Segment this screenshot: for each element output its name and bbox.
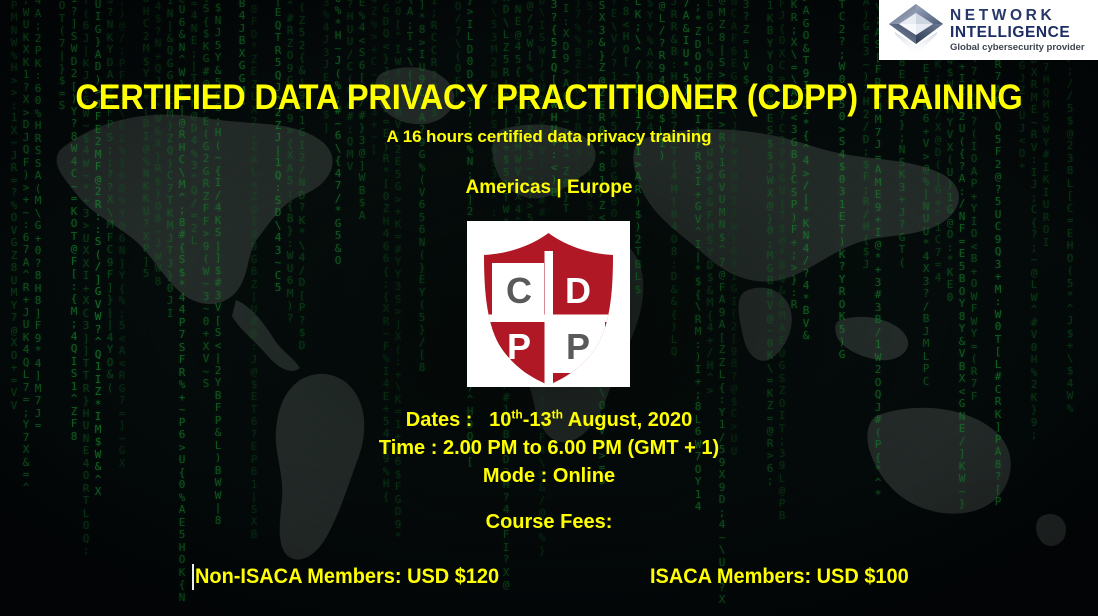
fee-non-isaca: Non-ISACA Members: USD $120 (195, 565, 499, 589)
cdpp-shield-logo: C D P P (467, 221, 630, 387)
brand-word-network: NETWORK (950, 8, 1094, 24)
dates-line: Dates : 10th-13th August, 2020 (0, 409, 1098, 432)
mode-line: Mode : Online (0, 465, 1098, 488)
subtitle: A 16 hours certified data privacy traini… (0, 127, 1098, 147)
brand-tagline: Global cybersecurity provider (950, 43, 1094, 53)
dates-day-to: 13 (529, 409, 551, 431)
dates-month-year: August, 2020 (563, 409, 692, 431)
network-intelligence-logo: NETWORK INTELLIGENCE Global cybersecurit… (879, 0, 1098, 60)
dates-label: Dates : (406, 409, 473, 431)
brand-word-intelligence: INTELLIGENCE (950, 25, 1094, 41)
time-line: Time : 2.00 PM to 6.00 PM (GMT + 1) (0, 437, 1098, 460)
shield-letter-p1: P (507, 326, 531, 367)
text-cursor-caret (192, 564, 194, 590)
diamond-cube-icon (885, 2, 947, 58)
presentation-slide: / { % H 3 O C 2 I ? 5 K Q P M N W % H > … (0, 0, 1098, 616)
region-label: Americas | Europe (0, 177, 1098, 199)
shield-letter-d: D (565, 270, 591, 311)
shield-letter-c: C (506, 270, 532, 311)
page-title: CERTIFIED DATA PRIVACY PRACTITIONER (CDP… (38, 78, 1059, 118)
dates-day-from-suffix: th (511, 407, 522, 421)
fee-isaca: ISACA Members: USD $100 (650, 565, 909, 589)
course-fees-label: Course Fees: (0, 511, 1098, 534)
brand-wordmark: NETWORK INTELLIGENCE Global cybersecurit… (947, 8, 1094, 53)
shield-letter-p2: P (566, 326, 590, 367)
dates-day-to-suffix: th (552, 407, 563, 421)
dates-day-from: 10 (489, 409, 511, 431)
slide-content: CERTIFIED DATA PRIVACY PRACTITIONER (CDP… (0, 0, 1098, 616)
fees-row: Non-ISACA Members: USD $120 ISACA Member… (0, 565, 1098, 593)
